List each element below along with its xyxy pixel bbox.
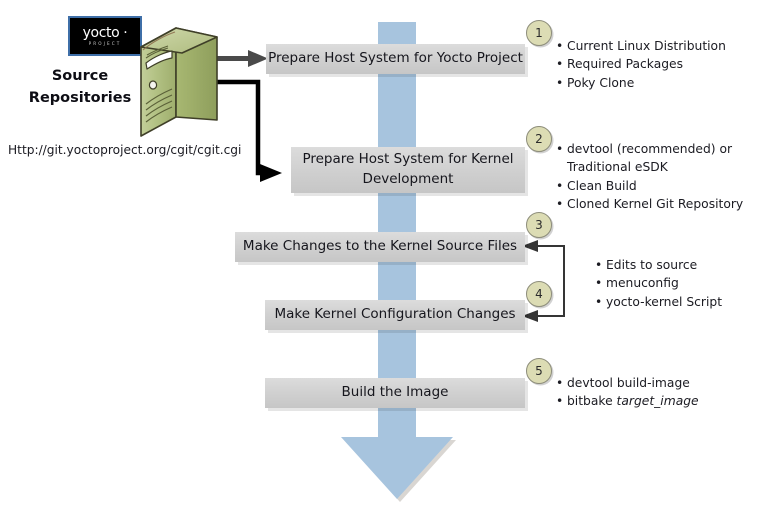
note-emphasis: target_image <box>617 394 699 408</box>
note-item: Edits to source <box>606 256 722 274</box>
note-item: Current Linux Distribution <box>567 37 726 55</box>
note-item: devtool build-image <box>567 374 699 392</box>
diagram-canvas: yocto · PROJECT Source Repositories Http… <box>0 0 769 517</box>
yocto-logo-subtext: PROJECT <box>89 42 122 46</box>
step-box-1[interactable]: Prepare Host System for Yocto Project <box>266 44 525 74</box>
step-number-1: 1 <box>526 20 552 46</box>
notes-step-1: Current Linux Distribution Required Pack… <box>553 37 726 92</box>
note-item: Cloned Kernel Git Repository <box>567 195 743 213</box>
step-box-3[interactable]: Make Changes to the Kernel Source Files <box>235 232 525 262</box>
note-item: devtool (recommended) or Traditional eSD… <box>567 140 743 177</box>
step-number-2: 2 <box>526 126 552 152</box>
note-item: menuconfig <box>606 274 722 292</box>
step-number-4: 4 <box>526 281 552 307</box>
step-box-2[interactable]: Prepare Host System for Kernel Developme… <box>291 147 525 193</box>
connector-server-to-step2 <box>214 72 294 184</box>
note-text: bitbake <box>567 394 617 408</box>
source-repositories-label: Source Repositories <box>20 66 140 110</box>
step-number-5: 5 <box>526 358 552 384</box>
connector-server-to-step1 <box>214 48 272 70</box>
step-box-5[interactable]: Build the Image <box>265 378 525 408</box>
note-item: Required Packages <box>567 55 726 73</box>
yocto-project-logo: yocto · PROJECT <box>68 16 142 56</box>
step-number-3: 3 <box>526 212 552 238</box>
note-item: Poky Clone <box>567 74 726 92</box>
step-box-4[interactable]: Make Kernel Configuration Changes <box>265 300 525 330</box>
notes-steps-3-and-4: Edits to source menuconfig yocto-kernel … <box>592 256 722 311</box>
flow-arrow-shaft <box>378 22 416 438</box>
note-item: yocto-kernel Script <box>606 293 722 311</box>
note-text: devtool build-image <box>567 376 690 390</box>
server-tower-icon <box>138 25 220 138</box>
yocto-logo-wordmark: yocto · <box>83 26 128 40</box>
source-repositories-url: Http://git.yoctoproject.org/cgit/cgit.cg… <box>8 143 241 157</box>
notes-step-5: devtool build-image bitbake target_image <box>553 374 699 411</box>
note-item: bitbake target_image <box>567 392 699 410</box>
flow-arrow-head <box>341 437 453 499</box>
notes-step-2: devtool (recommended) or Traditional eSD… <box>553 140 743 214</box>
note-item: Clean Build <box>567 177 743 195</box>
